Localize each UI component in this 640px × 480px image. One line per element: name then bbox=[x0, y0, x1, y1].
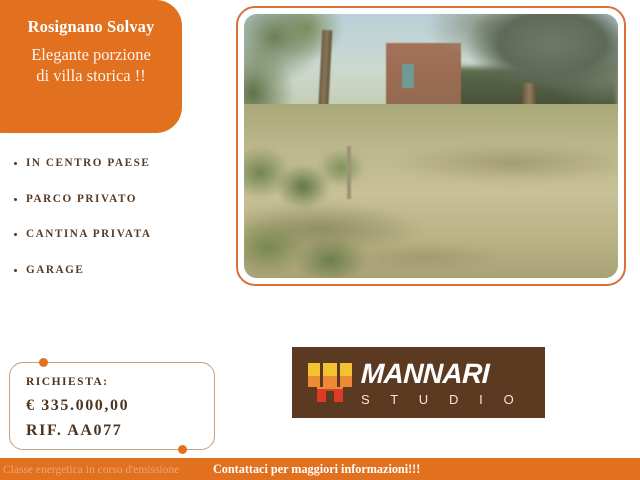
logo-notch bbox=[343, 387, 352, 403]
logo-notch bbox=[320, 363, 323, 387]
corner-dot-icon-top-left bbox=[39, 358, 48, 367]
property-subtitle-line-1: Elegante porzione bbox=[31, 45, 151, 64]
mannari-m-mark-icon bbox=[308, 363, 352, 403]
property-reference: RIF. AA077 bbox=[26, 422, 214, 440]
bullet-icon bbox=[14, 162, 17, 165]
contact-cta: Contattaci per maggiori informazioni!!! bbox=[213, 462, 420, 477]
property-subtitle: Elegante porzione di villa storica !! bbox=[12, 44, 170, 87]
energy-class-note: Classe energetica in corso d'emissione bbox=[3, 464, 179, 476]
price-value: € 335.000,00 bbox=[26, 397, 214, 415]
logo-band-yellow bbox=[308, 363, 352, 376]
agency-name: MANNARI bbox=[361, 360, 523, 388]
property-photo-frame bbox=[236, 6, 626, 286]
logo-notch bbox=[308, 387, 317, 403]
agency-logo: MANNARI S T U D I O bbox=[292, 347, 545, 418]
feature-item: CANTINA PRIVATA bbox=[13, 228, 223, 240]
title-banner: Rosignano Solvay Elegante porzione di vi… bbox=[0, 0, 182, 133]
photo-shrubs bbox=[244, 204, 390, 278]
footer-bar: Classe energetica in corso d'emissione C… bbox=[0, 458, 640, 480]
bullet-icon bbox=[14, 198, 17, 201]
bullet-icon bbox=[14, 233, 17, 236]
feature-item: IN CENTRO PAESE bbox=[13, 157, 223, 169]
feature-label: GARAGE bbox=[26, 264, 84, 276]
real-estate-flyer: Rosignano Solvay Elegante porzione di vi… bbox=[0, 0, 640, 480]
feature-label: IN CENTRO PAESE bbox=[26, 157, 150, 169]
feature-label: PARCO PRIVATO bbox=[26, 193, 137, 205]
price-label: RICHIESTA: bbox=[26, 376, 214, 388]
logo-notch bbox=[337, 363, 340, 387]
corner-dot-icon-bottom-right bbox=[178, 445, 187, 454]
agency-tagline: S T U D I O bbox=[361, 393, 522, 406]
feature-item: GARAGE bbox=[13, 264, 223, 276]
logo-notch bbox=[326, 391, 335, 402]
agency-logo-text: MANNARI S T U D I O bbox=[361, 360, 522, 406]
feature-label: CANTINA PRIVATA bbox=[26, 228, 152, 240]
photo-garden-post bbox=[347, 146, 351, 199]
property-location-title: Rosignano Solvay bbox=[12, 18, 170, 37]
feature-item: PARCO PRIVATO bbox=[13, 193, 223, 205]
property-subtitle-line-2: di villa storica !! bbox=[36, 66, 146, 85]
feature-list: IN CENTRO PAESE PARCO PRIVATO CANTINA PR… bbox=[13, 157, 223, 299]
property-photo bbox=[244, 14, 618, 278]
bullet-icon bbox=[14, 269, 17, 272]
price-box: RICHIESTA: € 335.000,00 RIF. AA077 bbox=[9, 362, 215, 450]
